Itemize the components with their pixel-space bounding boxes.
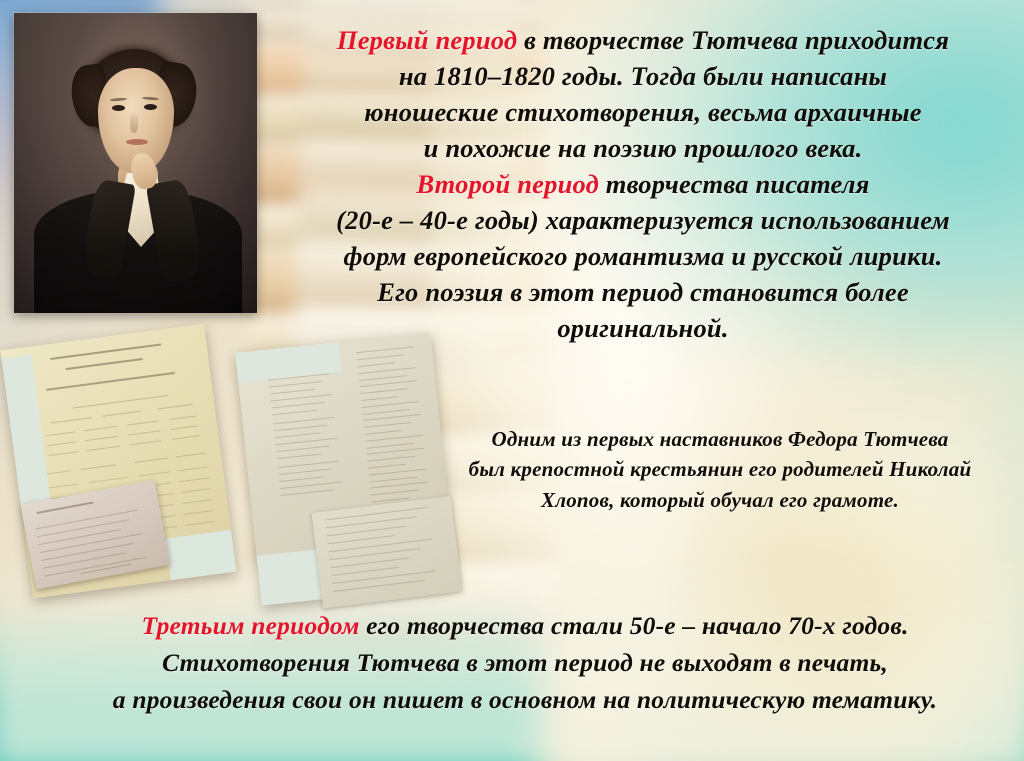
handwriting-stroke bbox=[269, 381, 323, 388]
third-period-paragraph-accent-1: Третьим периодом bbox=[141, 611, 359, 640]
handwriting-stroke bbox=[179, 477, 209, 482]
handwriting-stroke bbox=[46, 372, 175, 390]
handwriting-stroke bbox=[47, 441, 77, 446]
handwriting-stroke bbox=[367, 448, 425, 455]
handwriting-stroke bbox=[157, 404, 193, 410]
handwriting-stroke bbox=[369, 469, 427, 476]
handwriting-stroke bbox=[359, 380, 417, 387]
handwriting-stroke bbox=[356, 346, 414, 353]
handwriting-stroke bbox=[65, 358, 143, 370]
handwriting-stroke bbox=[364, 430, 402, 435]
handwriting-stroke bbox=[127, 420, 159, 425]
handwriting-stroke bbox=[102, 411, 142, 417]
handwriting-stroke bbox=[371, 490, 419, 496]
portrait-tyutchev bbox=[14, 13, 257, 313]
handwriting-stroke bbox=[81, 464, 117, 470]
handwriting-stroke bbox=[84, 426, 118, 431]
tutor-paragraph-line-2: был крепостной крестьянин его родителей … bbox=[430, 454, 1010, 484]
main-paragraph-line-9: оригинальной. bbox=[286, 310, 1000, 346]
handwriting-stroke bbox=[178, 466, 208, 471]
handwriting-stroke bbox=[270, 394, 332, 401]
handwriting-stroke bbox=[183, 510, 213, 515]
handwriting-stroke bbox=[185, 521, 215, 526]
handwriting-stroke bbox=[358, 367, 416, 374]
handwriting-stroke bbox=[331, 567, 399, 576]
handwriting-stroke bbox=[88, 477, 128, 483]
main-paragraph-accent-1: Первый период bbox=[337, 25, 517, 55]
handwriting-stroke bbox=[176, 453, 206, 458]
handwriting-stroke bbox=[181, 488, 211, 493]
main-paragraph-line-5: Второй период творчества писателя bbox=[286, 166, 1000, 202]
handwriting-stroke bbox=[324, 507, 427, 521]
handwriting-stroke bbox=[363, 414, 421, 421]
handwriting-stroke bbox=[362, 409, 410, 415]
third-period-paragraph-line-2: Стихотворения Тютчева в этот период не в… bbox=[60, 645, 990, 682]
handwriting-stroke bbox=[45, 483, 79, 488]
tutor-paragraph-line-1: Одним из первых наставников Федора Тютче… bbox=[430, 424, 1010, 454]
handwriting-stroke bbox=[130, 440, 162, 445]
handwriting-stroke bbox=[280, 489, 334, 496]
tutor-paragraph: Одним из первых наставников Федора Тютче… bbox=[430, 424, 1010, 515]
third-period-paragraph-line-3: а произведения свои он пишет в основном … bbox=[60, 682, 990, 719]
handwriting-stroke bbox=[357, 354, 405, 360]
handwriting-stroke bbox=[360, 388, 408, 394]
handwriting-stroke bbox=[275, 438, 337, 445]
handwriting-stroke bbox=[272, 410, 318, 416]
handwriting-stroke bbox=[41, 543, 134, 561]
handwriting-stroke bbox=[274, 433, 320, 439]
handwriting-stroke bbox=[270, 389, 316, 395]
handwriting-stroke bbox=[138, 471, 170, 476]
handwriting-stroke bbox=[49, 451, 79, 456]
handwriting-stroke bbox=[50, 417, 92, 423]
handwriting-stroke bbox=[365, 435, 423, 442]
handwriting-stroke bbox=[277, 461, 339, 468]
handwriting-stroke bbox=[276, 446, 330, 453]
tutor-paragraph-line-3: Хлопов, который обучал его грамоте. bbox=[430, 485, 1010, 515]
handwriting-stroke bbox=[73, 395, 168, 409]
main-paragraph-line-2: на 1810–1820 годы. Тогда были написаны bbox=[286, 58, 1000, 94]
handwriting-stroke bbox=[169, 415, 197, 420]
main-paragraph-line-7: форм европейского романтизма и русской л… bbox=[286, 238, 1000, 274]
handwriting-stroke bbox=[357, 362, 395, 367]
manuscript-genealogy-edge-corner bbox=[166, 530, 237, 580]
handwriting-stroke bbox=[364, 422, 412, 428]
slide-canvas: Первый период в творчестве Тютчева прихо… bbox=[0, 0, 1024, 761]
handwriting-stroke bbox=[276, 453, 322, 459]
third-period-paragraph-line-1: Третьим периодом его творчества стали 50… bbox=[60, 608, 990, 645]
handwriting-stroke bbox=[182, 499, 212, 504]
handwriting-stroke bbox=[172, 435, 200, 440]
handwriting-stroke bbox=[361, 396, 399, 401]
handwriting-stroke bbox=[38, 529, 121, 545]
portrait-vignette bbox=[14, 13, 257, 313]
handwriting-stroke bbox=[274, 425, 328, 432]
main-paragraph-accent-5: Второй период bbox=[416, 169, 599, 199]
handwriting-stroke bbox=[85, 436, 119, 441]
handwriting-stroke bbox=[271, 402, 325, 409]
manuscript-poem bbox=[235, 332, 456, 605]
third-period-paragraph: Третьим периодом его творчества стали 50… bbox=[60, 608, 990, 719]
handwriting-stroke bbox=[362, 401, 420, 408]
main-paragraph-line-6: (20-е – 40-е годы) характеризуется испол… bbox=[286, 202, 1000, 238]
main-paragraph: Первый период в творчестве Тютчева прихо… bbox=[286, 22, 1000, 346]
handwriting-stroke bbox=[278, 468, 332, 475]
handwriting-stroke bbox=[327, 535, 395, 544]
handwriting-stroke bbox=[129, 430, 161, 435]
handwriting-stroke bbox=[47, 470, 71, 474]
handwriting-stroke bbox=[280, 482, 342, 489]
main-paragraph-line-1: Первый период в творчестве Тютчева прихо… bbox=[286, 22, 1000, 58]
handwriting-stroke bbox=[134, 458, 168, 463]
handwriting-stroke bbox=[279, 476, 325, 482]
handwriting-stroke bbox=[359, 375, 407, 381]
handwriting-stroke bbox=[368, 464, 406, 469]
main-paragraph-line-8: Его поэзия в этот период становится боле… bbox=[286, 274, 1000, 310]
handwriting-stroke bbox=[273, 417, 335, 424]
handwriting-stroke bbox=[86, 446, 120, 451]
handwriting-stroke bbox=[367, 456, 415, 462]
main-paragraph-line-4: и похожие на поэзию прошлого века. bbox=[286, 130, 1000, 166]
handwriting-stroke bbox=[50, 343, 161, 359]
main-paragraph-line-3: юношеские стихотворения, весьма архаичны… bbox=[286, 94, 1000, 130]
handwriting-stroke bbox=[46, 431, 76, 436]
handwriting-stroke bbox=[366, 443, 414, 449]
manuscript-genealogy bbox=[1, 324, 237, 599]
handwriting-stroke bbox=[170, 425, 198, 430]
handwriting-stroke bbox=[37, 519, 130, 537]
handwriting-stroke bbox=[370, 482, 428, 489]
handwriting-stroke bbox=[369, 477, 417, 483]
handwriting-stroke bbox=[36, 501, 93, 513]
